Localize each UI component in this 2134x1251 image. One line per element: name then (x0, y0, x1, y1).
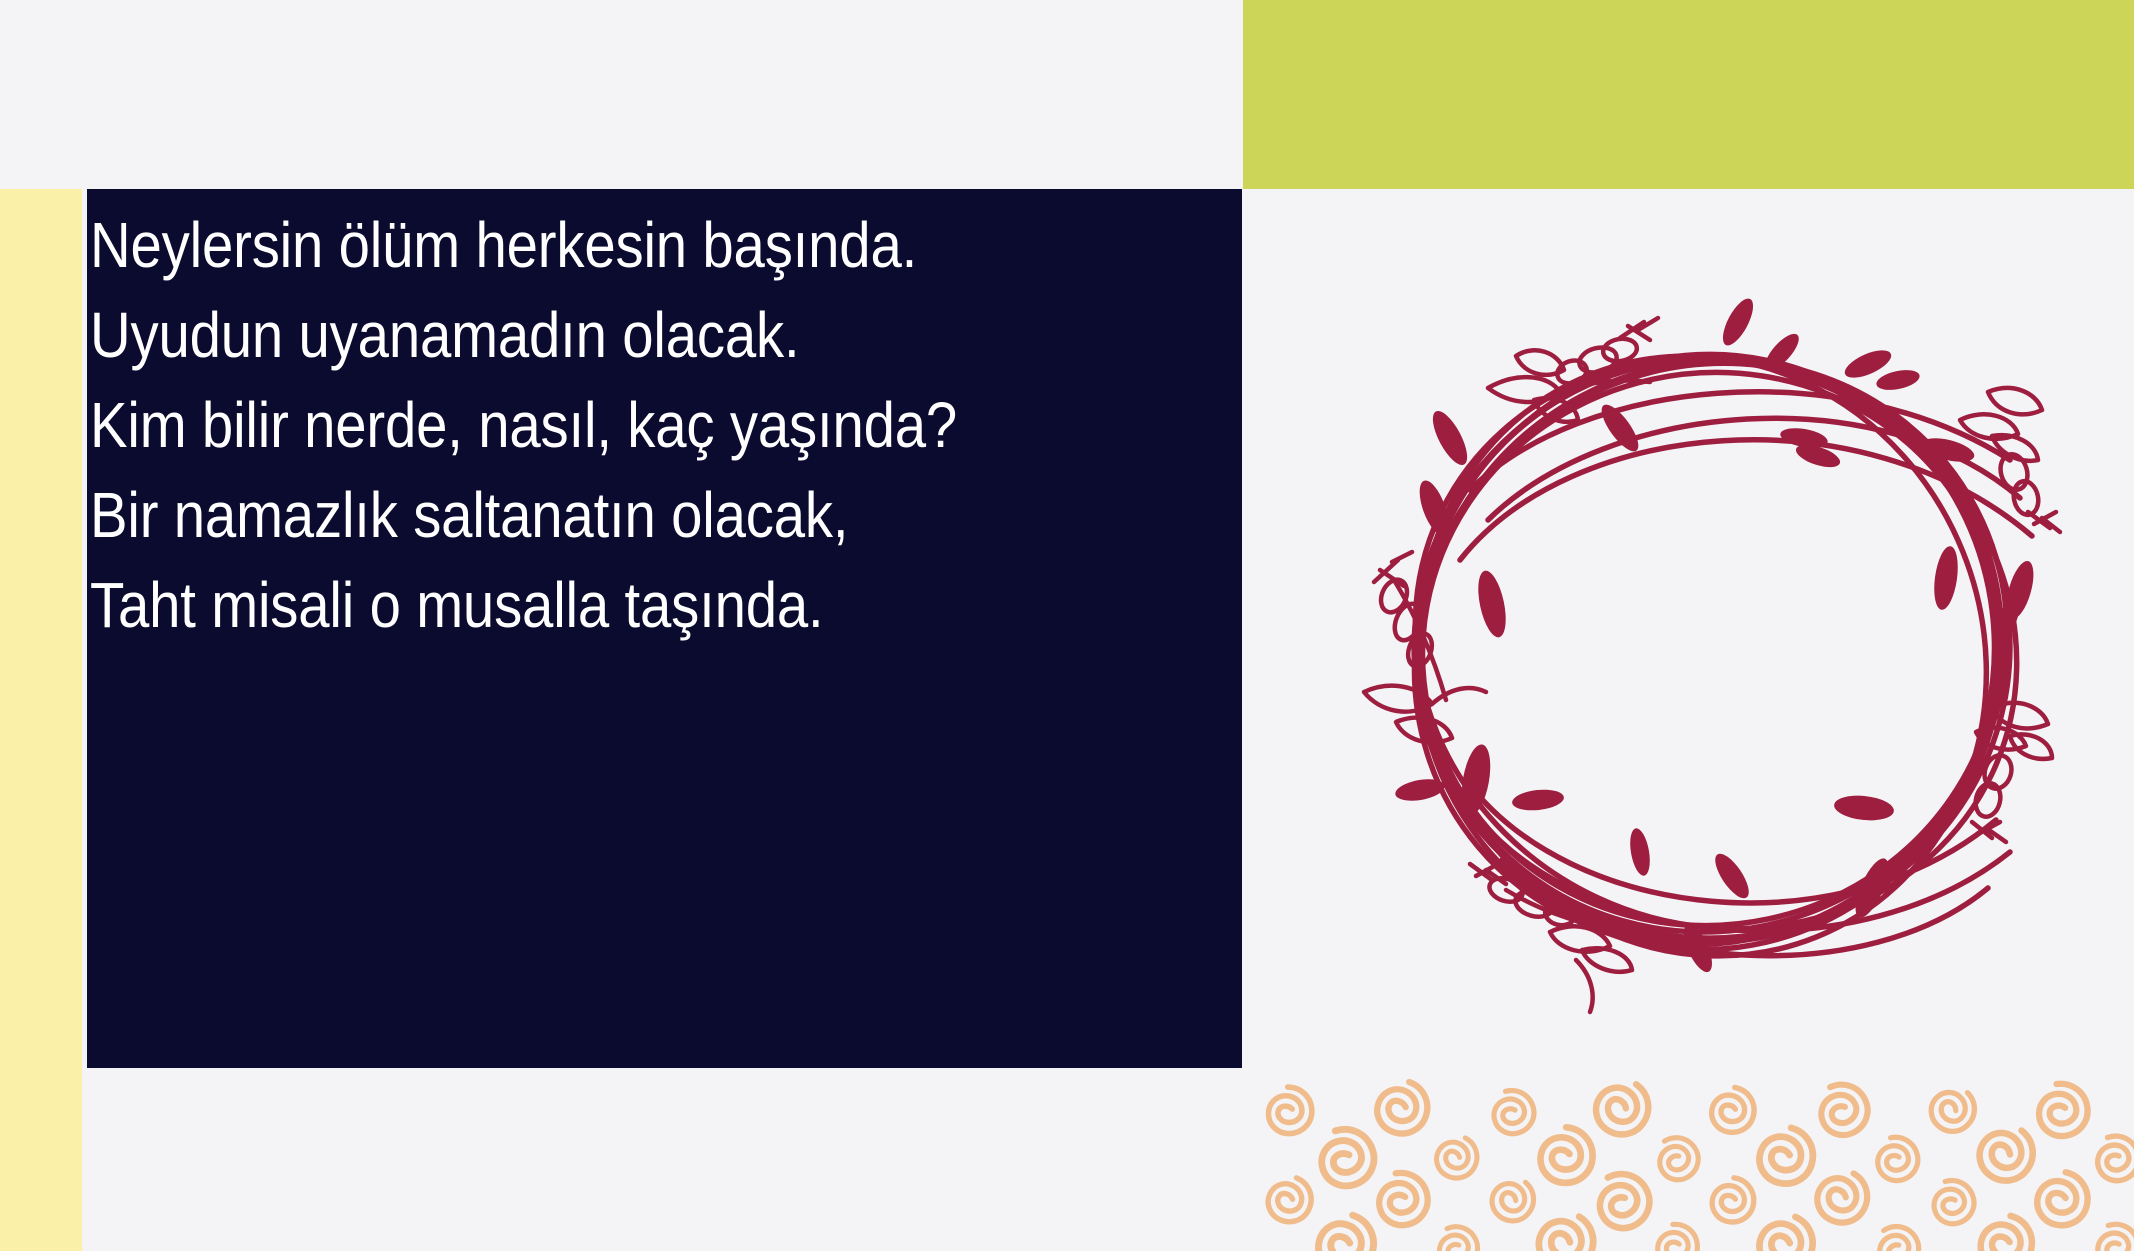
quote-line: Taht misali o musalla taşında. (90, 560, 979, 650)
spiral-pattern-decoration (1237, 1068, 2134, 1251)
yellow-accent-strip (0, 189, 82, 1251)
quote-line: Uyudun uyanamadın olacak. (90, 290, 979, 380)
quote-text-block: Neylersin ölüm herkesin başında. Uyudun … (90, 200, 1100, 650)
quote-line: Kim bilir nerde, nasıl, kaç yaşında? (90, 380, 979, 470)
quote-line: Neylersin ölüm herkesin başında. (90, 200, 979, 290)
floral-wreath-icon (1320, 260, 2100, 1040)
slide-canvas: Neylersin ölüm herkesin başında. Uyudun … (0, 0, 2134, 1251)
quote-line: Bir namazlık saltanatın olacak, (90, 470, 979, 560)
green-accent-block (1243, 0, 2134, 189)
